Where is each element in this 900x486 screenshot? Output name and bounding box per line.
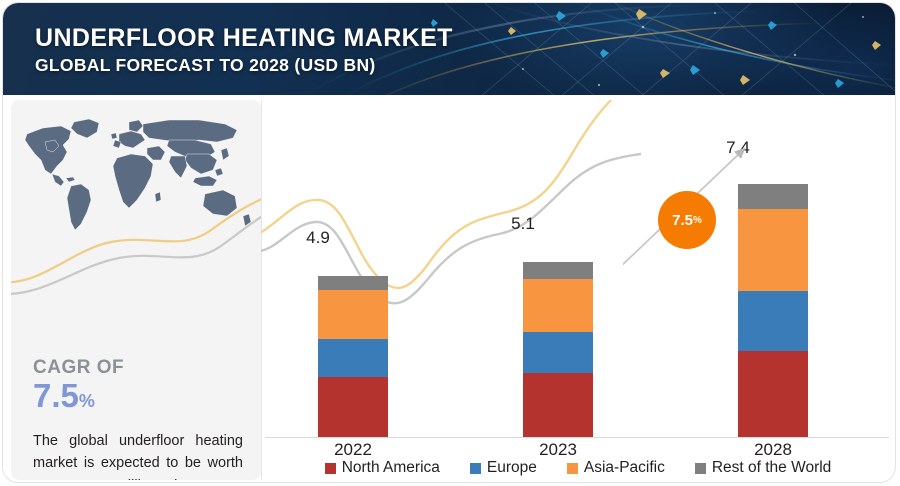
- legend-item-europe[interactable]: Europe: [470, 459, 537, 477]
- infographic-root: UNDERFLOOR HEATING MARKET GLOBAL FORECAS…: [0, 0, 900, 486]
- page-title: UNDERFLOOR HEATING MARKET: [35, 25, 453, 52]
- cagr-value-wrap: 7.5%: [33, 379, 124, 412]
- legend-label-europe: Europe: [487, 459, 537, 477]
- segment-europe-2022: [318, 339, 388, 377]
- left-info-panel: CAGR OF 7.5% The global underfloor heati…: [11, 100, 261, 480]
- legend-label-rest-of-world: Rest of the World: [712, 459, 831, 477]
- cagr-badge-symbol: %: [693, 215, 702, 226]
- legend-item-rest-of-world[interactable]: Rest of the World: [695, 459, 831, 477]
- header-banner: UNDERFLOOR HEATING MARKET GLOBAL FORECAS…: [3, 3, 896, 95]
- bar-2023[interactable]: [523, 262, 593, 437]
- segment-asia-pacific-2022: [318, 290, 388, 339]
- segment-north-america-2023: [523, 373, 593, 437]
- legend-swatch-europe: [470, 463, 481, 474]
- segment-rest-of-world-2022: [318, 276, 388, 290]
- cagr-number: 7.5: [33, 377, 79, 414]
- legend-swatch-asia-pacific: [567, 463, 578, 474]
- segment-europe-2028: [738, 291, 808, 351]
- legend-swatch-north-america: [325, 463, 336, 474]
- cagr-label: CAGR OF: [33, 358, 124, 377]
- chart-legend: North America Europe Asia-Pacific Rest o…: [261, 455, 895, 481]
- legend-label-north-america: North America: [342, 459, 440, 477]
- legend-item-north-america[interactable]: North America: [325, 459, 440, 477]
- cagr-badge-number: 7.5: [672, 212, 693, 229]
- page-subtitle: GLOBAL FORECAST TO 2028 (USD BN): [35, 55, 453, 76]
- chart-baseline: [265, 437, 889, 438]
- title-wrap: UNDERFLOOR HEATING MARKET GLOBAL FORECAS…: [35, 25, 453, 76]
- bar-total-2022: 4.9: [273, 228, 363, 248]
- segment-rest-of-world-2023: [523, 262, 593, 279]
- segment-north-america-2028: [738, 351, 808, 437]
- segment-north-america-2022: [318, 377, 388, 437]
- legend-label-asia-pacific: Asia-Pacific: [584, 459, 665, 477]
- decorative-waves-left: [11, 190, 261, 300]
- bar-total-2023: 5.1: [478, 214, 568, 234]
- description-text: The global underfloor heating market is …: [33, 430, 243, 480]
- chart-plot-area: 4.9 2022 5.1 2023 7.4 2028: [261, 100, 895, 480]
- legend-item-asia-pacific[interactable]: Asia-Pacific: [567, 459, 665, 477]
- segment-europe-2023: [523, 332, 593, 373]
- outer-card: UNDERFLOOR HEATING MARKET GLOBAL FORECAS…: [2, 2, 896, 483]
- cagr-badge: 7.5%: [658, 191, 716, 249]
- bar-2022[interactable]: [318, 276, 388, 437]
- cagr-block: CAGR OF 7.5%: [33, 358, 124, 412]
- segment-asia-pacific-2023: [523, 279, 593, 332]
- legend-swatch-rest-of-world: [695, 463, 706, 474]
- cagr-percent-symbol: %: [79, 391, 95, 411]
